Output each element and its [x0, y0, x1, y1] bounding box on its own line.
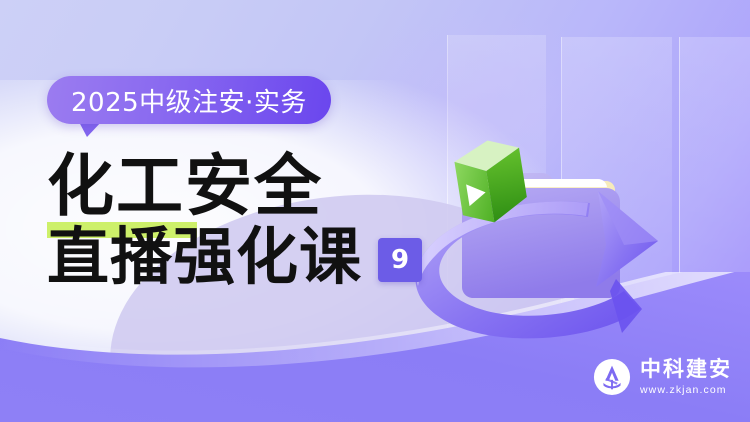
folder-illustration [410, 95, 710, 345]
episode-badge: 9 [378, 238, 422, 282]
logo-text-block: 中科建安 www.zkjan.com [640, 359, 732, 396]
headline-row-1: 化工安全 [47, 150, 422, 222]
headline-block: 化工安全 直播强化课 9 [47, 150, 422, 292]
course-tag: 2025中级注安·实务 [47, 76, 331, 124]
headline-line-2: 直播强化课 [47, 222, 362, 292]
course-tag-label: 2025中级注安·实务 [71, 82, 307, 119]
course-banner: 2025中级注安·实务 化工安全 直播强化课 9 中科建安 www.zkjan.… [0, 0, 750, 422]
brand-logo[interactable]: 中科建安 www.zkjan.com [593, 358, 732, 396]
zkjan-logo-icon [593, 358, 631, 396]
headline-row-2: 直播强化课 9 [47, 222, 422, 292]
headline-line-1: 化工安全 [47, 150, 323, 222]
brand-name: 中科建安 [640, 359, 732, 380]
brand-url: www.zkjan.com [640, 385, 732, 396]
